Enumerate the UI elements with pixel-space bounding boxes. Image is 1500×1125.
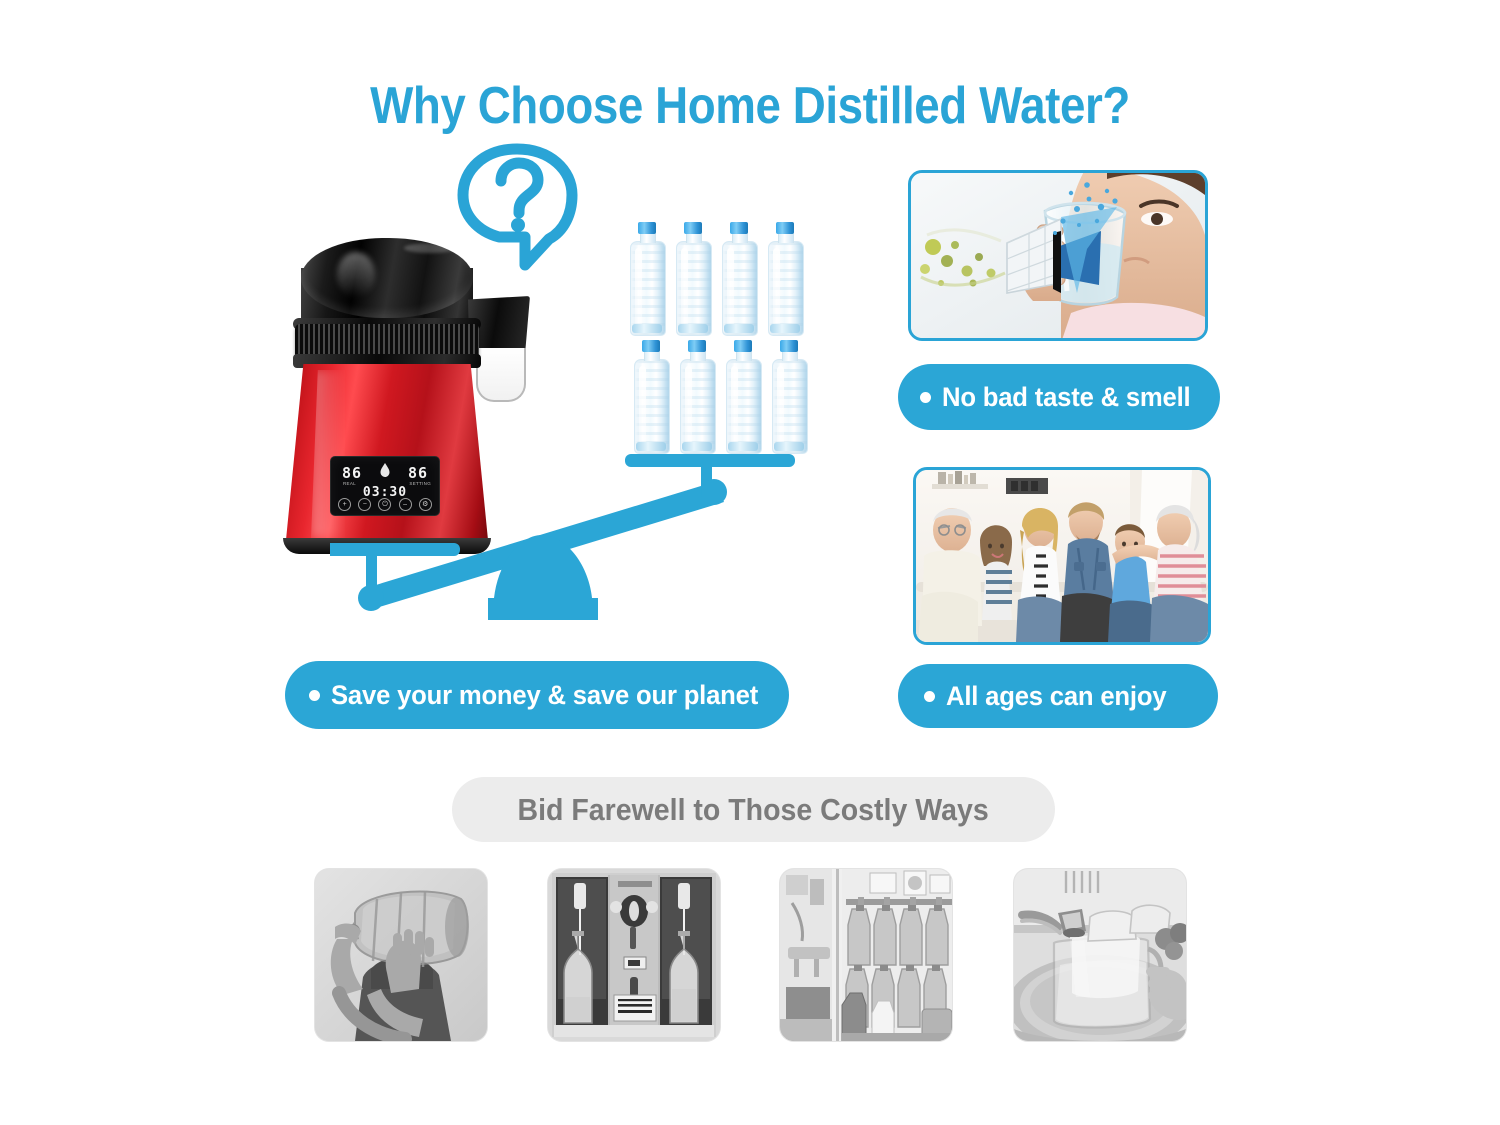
banner-label: Bid Farewell to Those Costly Ways	[518, 792, 989, 828]
family-illustration	[916, 470, 1208, 642]
water-bottle	[674, 222, 712, 334]
costly-ways-gallery	[315, 869, 1186, 1041]
bullet-dot-icon	[309, 690, 320, 701]
water-bottle	[770, 340, 808, 452]
gallery-photo-water-refill-shop	[780, 869, 952, 1041]
distiller-lid	[301, 238, 473, 318]
water-bottle	[678, 340, 716, 452]
benefit-pill-all-ages: All ages can enjoy	[898, 664, 1218, 728]
gallery-photo-heavy-jug	[315, 869, 487, 1041]
bottled-water-stack	[628, 222, 808, 457]
benefit-label: No bad taste & smell	[942, 382, 1190, 413]
benefit-label: Save your money & save our planet	[331, 680, 758, 711]
infographic-canvas: Why Choose Home Distilled Water? 86 REAL…	[0, 0, 1500, 1125]
water-bottle	[724, 340, 762, 452]
distiller-spout-nozzle	[476, 348, 526, 402]
section-banner-costly-ways: Bid Farewell to Those Costly Ways	[452, 777, 1055, 842]
photo-woman-drinking-water	[908, 170, 1208, 341]
drinking-water-illustration	[911, 173, 1205, 338]
water-bottle	[766, 222, 804, 334]
balance-scale	[330, 440, 800, 620]
benefit-pill-no-bad-taste: No bad taste & smell	[898, 364, 1220, 430]
water-bottle	[720, 222, 758, 334]
benefit-pill-save-money: Save your money & save our planet	[285, 661, 789, 729]
photo-family-on-sofa	[913, 467, 1211, 645]
page-title: Why Choose Home Distilled Water?	[90, 76, 1410, 136]
bullet-dot-icon	[920, 392, 931, 403]
water-bottle	[632, 340, 670, 452]
bottle-row	[628, 222, 808, 340]
gallery-photo-water-vending-machine	[548, 869, 720, 1041]
benefit-label: All ages can enjoy	[946, 681, 1166, 712]
balance-scale-graphic	[330, 440, 800, 620]
bullet-dot-icon	[924, 691, 935, 702]
water-bottle	[628, 222, 666, 334]
gallery-photo-filter-pitcher-faucet	[1014, 869, 1186, 1041]
